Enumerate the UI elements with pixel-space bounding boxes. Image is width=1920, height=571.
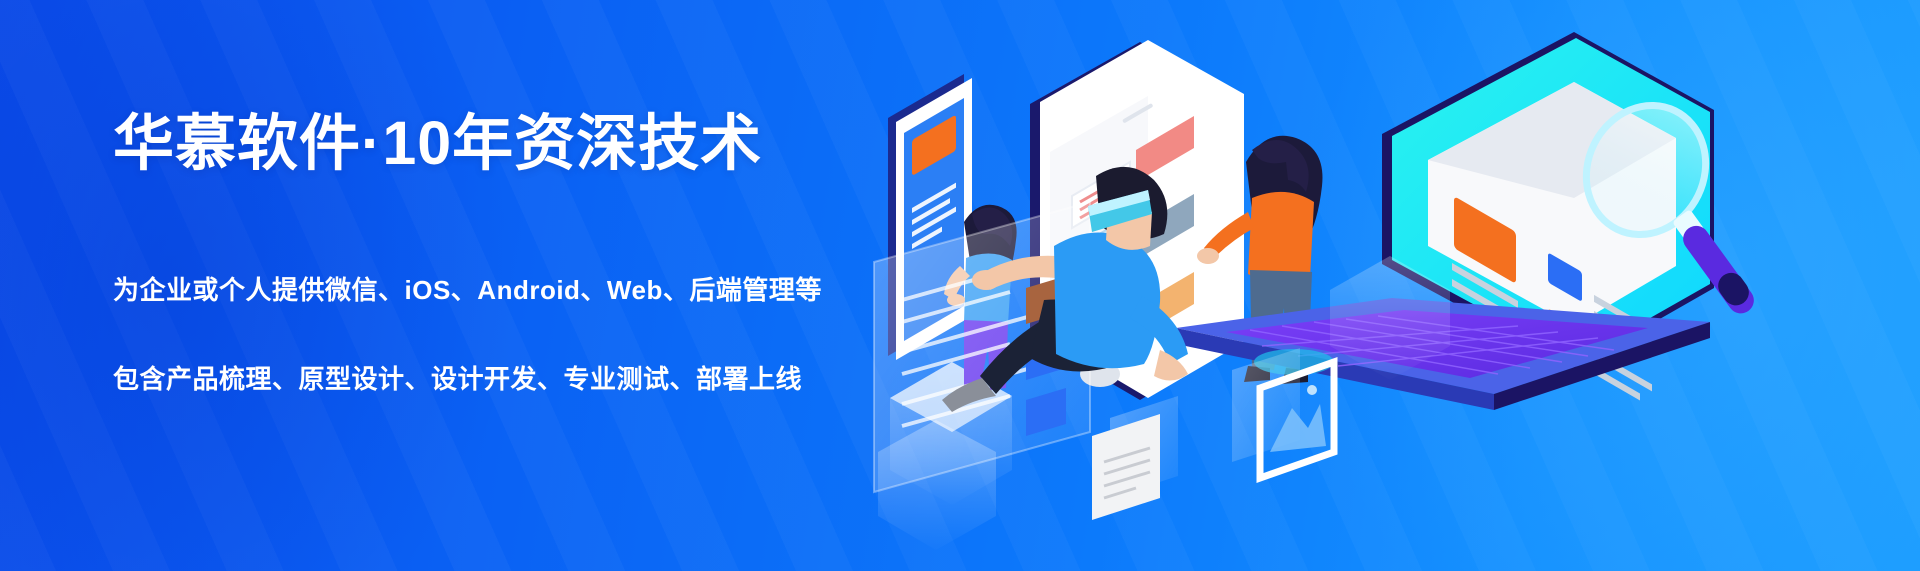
hero-banner: 华慕软件·10年资深技术 为企业或个人提供微信、iOS、Android、Web、… (0, 0, 1920, 571)
banner-subtitle-line-1: 为企业或个人提供微信、iOS、Android、Web、后端管理等 (113, 270, 873, 307)
banner-subtitle-line-2: 包含产品梳理、原型设计、设计开发、专业测试、部署上线 (113, 359, 873, 396)
floating-document-card (1092, 396, 1178, 520)
hero-illustration (860, 0, 1920, 571)
banner-subtitle-list: 为企业或个人提供微信、iOS、Android、Web、后端管理等 包含产品梳理、… (113, 270, 873, 396)
floating-image-card (1232, 348, 1334, 478)
banner-text-block: 华慕软件·10年资深技术 为企业或个人提供微信、iOS、Android、Web、… (113, 108, 873, 396)
banner-headline: 华慕软件·10年资深技术 (113, 108, 873, 178)
